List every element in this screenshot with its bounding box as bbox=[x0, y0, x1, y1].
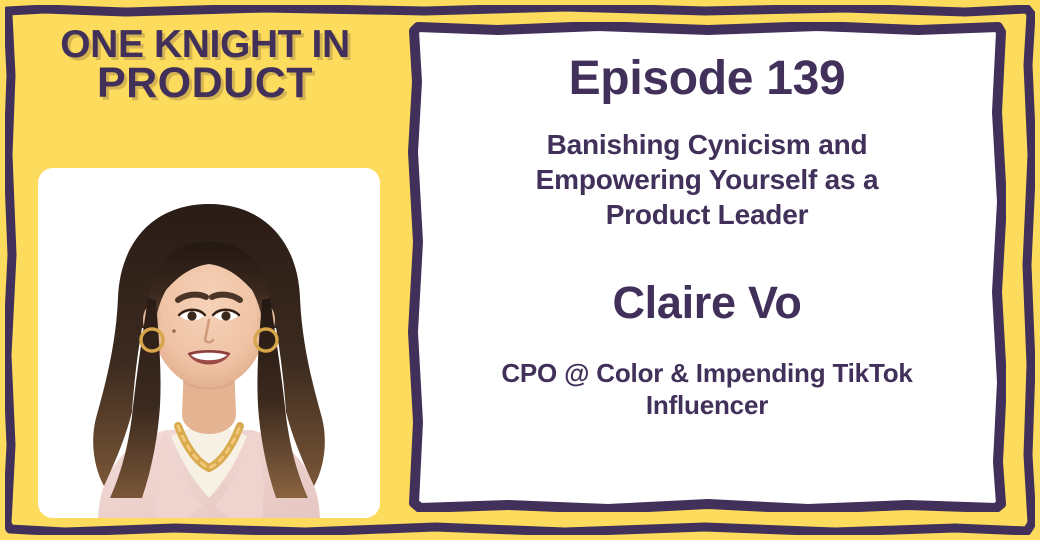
guest-role: CPO @ Color & Impending TikTok Influence… bbox=[434, 357, 980, 422]
guest-role-line-2: Influencer bbox=[440, 389, 974, 422]
episode-info-card: Episode 139 Banishing Cynicism and Empow… bbox=[408, 22, 1006, 512]
guest-role-line-1: CPO @ Color & Impending TikTok bbox=[440, 357, 974, 390]
episode-info-content: Episode 139 Banishing Cynicism and Empow… bbox=[434, 40, 980, 494]
episode-subtitle-line-3: Product Leader bbox=[448, 198, 966, 233]
brand-column: ONE KNIGHT IN PRODUCT bbox=[0, 0, 400, 540]
guest-photo-card bbox=[38, 168, 380, 518]
episode-subtitle-line-2: Empowering Yourself as a bbox=[448, 163, 966, 198]
podcast-episode-poster: ONE KNIGHT IN PRODUCT bbox=[0, 0, 1040, 540]
episode-subtitle-line-1: Banishing Cynicism and bbox=[448, 128, 966, 163]
guest-portrait bbox=[38, 168, 380, 518]
episode-number-title: Episode 139 bbox=[434, 54, 980, 104]
episode-subtitle: Banishing Cynicism and Empowering Yourse… bbox=[434, 128, 980, 232]
logo-line-one: ONE KNIGHT IN bbox=[20, 26, 390, 63]
logo-line-two: PRODUCT bbox=[20, 63, 390, 104]
podcast-logo: ONE KNIGHT IN PRODUCT bbox=[20, 26, 390, 105]
guest-name: Claire Vo bbox=[434, 277, 980, 329]
